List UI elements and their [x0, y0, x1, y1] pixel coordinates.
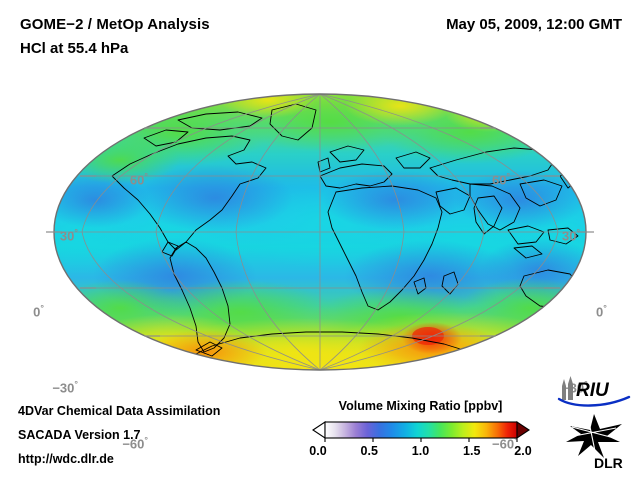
colorbar-tick-1: 0.5 [361, 444, 378, 458]
riu-logo: RIU [556, 376, 632, 408]
lat-label-left-0: 0° [33, 305, 44, 320]
riu-spires-icon [562, 376, 573, 400]
footer-url-link[interactable]: http://wdc.dlr.de [18, 452, 114, 466]
timestamp-label: May 05, 2009, 12:00 GMT [446, 16, 622, 33]
lat-label-right-60: 60° [492, 173, 510, 188]
lat-label-right-0: 0° [596, 305, 607, 320]
lat-label-right-30: 30° [562, 229, 580, 244]
data-field [20, 82, 630, 380]
dlr-emblem-icon [566, 414, 622, 458]
riu-logo-svg: RIU [556, 376, 632, 408]
page-title: GOME−2 / MetOp Analysis [20, 16, 210, 33]
colorbar-tickmarks [325, 438, 517, 442]
dlr-wordmark: DLR [594, 455, 623, 471]
colorbar-tick-3: 1.5 [463, 444, 480, 458]
colorbar-tick-0: 0.0 [309, 444, 326, 458]
footer-method-label: 4DVar Chemical Data Assimilation [18, 404, 220, 418]
footer-version-label: SACADA Version 1.7 [18, 428, 141, 442]
colorbar [312, 418, 530, 442]
colorbar-svg [312, 418, 530, 442]
world-map: 60° 30° 0° −30° −60° 60° 30° 0° −30° −60… [0, 80, 640, 380]
lat-label-left-30: 30° [60, 229, 78, 244]
colorbar-tick-4: 2.0 [514, 444, 531, 458]
colorbar-tick-2: 1.0 [412, 444, 429, 458]
lat-label-left-60: 60° [130, 173, 148, 188]
figure-root: GOME−2 / MetOp Analysis HCl at 55.4 hPa … [0, 0, 640, 480]
colorbar-title: Volume Mixing Ratio [ppbv] [318, 399, 523, 413]
colorbar-under-arrow [313, 422, 325, 438]
lat-label-left-minus30: −30° [52, 381, 78, 396]
colorbar-tick-labels: 0.0 0.5 1.0 1.5 2.0 [318, 444, 523, 460]
map-svg [0, 80, 640, 380]
colorbar-ramp [325, 422, 517, 438]
riu-wordmark: RIU [576, 380, 610, 401]
dlr-logo-svg: DLR [560, 412, 632, 472]
colorbar-over-arrow [517, 422, 529, 438]
page-subtitle: HCl at 55.4 hPa [20, 40, 128, 57]
dlr-logo: DLR [560, 412, 632, 472]
